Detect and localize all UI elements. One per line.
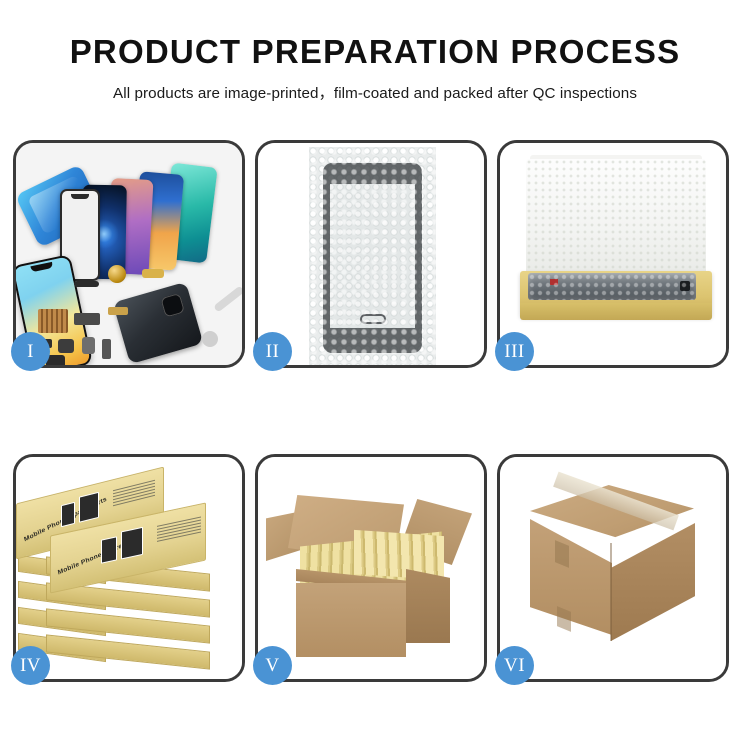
step-1-image: [16, 143, 242, 365]
box-window-left: [101, 536, 117, 563]
process-step-6: VI: [497, 454, 729, 682]
bubble-wrap-sheet: [309, 147, 436, 365]
step-3-image: [500, 143, 726, 365]
foam-padding: [526, 159, 706, 284]
phone-back-housing: [113, 282, 204, 364]
page-subtitle: All products are image-printed，film-coat…: [0, 81, 750, 103]
process-step-grid: I II: [13, 140, 737, 682]
carton-vertical-edge: [610, 543, 612, 641]
camera-lens-part-icon: [108, 265, 126, 283]
retail-box-stack: Mobile Phone Spare Parts Mobile Phone Sp…: [16, 457, 242, 679]
page-title: PRODUCT PREPARATION PROCESS: [0, 34, 750, 70]
box-window-right: [79, 492, 99, 523]
step-2-image: [258, 143, 484, 365]
step-badge-1: I: [11, 332, 50, 371]
box-window-right: [121, 527, 143, 560]
flex-cable-part-icon: [142, 269, 164, 278]
sim-tray-part-icon: [102, 339, 111, 359]
screw-part-icon: [202, 331, 218, 347]
step-badge-2: II: [253, 332, 292, 371]
button-part-icon: [58, 339, 74, 353]
kraft-box-front-wall: [520, 303, 712, 320]
step-badge-3: III: [495, 332, 534, 371]
tweezers-tool-icon: [213, 285, 242, 312]
process-step-2: II: [255, 140, 487, 368]
red-marker-icon: [550, 279, 558, 285]
box-window-left: [61, 502, 75, 527]
carton-seam-lower: [557, 606, 571, 632]
process-step-1: I: [13, 140, 245, 368]
connector-part-icon: [74, 313, 100, 325]
process-step-5: V: [255, 454, 487, 682]
step-badge-4: IV: [11, 646, 50, 685]
packed-boxes-row-back: [354, 530, 444, 580]
screen-in-box: [528, 273, 696, 300]
gold-flex-part-icon: [108, 307, 128, 315]
step-badge-6: VI: [495, 646, 534, 685]
header: PRODUCT PREPARATION PROCESS All products…: [0, 0, 750, 103]
carton-left-face: [530, 519, 612, 635]
step-6-image: [500, 457, 726, 679]
carton-front-wall: [296, 583, 406, 657]
process-step-4: Mobile Phone Spare Parts Mobile Phone Sp…: [13, 454, 245, 682]
carton-right-wall: [406, 569, 450, 643]
infographic-page: PRODUCT PREPARATION PROCESS All products…: [0, 0, 750, 750]
step-5-image: [258, 457, 484, 679]
box-spec-lines: [113, 480, 155, 508]
process-step-3: III: [497, 140, 729, 368]
wrapped-screen: [323, 163, 422, 353]
screen-connector-icon: [680, 281, 690, 291]
speaker-part-icon: [74, 281, 99, 287]
carton-right-face: [611, 523, 695, 641]
step-badge-5: V: [253, 646, 292, 685]
copper-grid-part-icon: [38, 309, 68, 333]
step-4-image: Mobile Phone Spare Parts Mobile Phone Sp…: [16, 457, 242, 679]
box-spec-lines: [157, 516, 201, 543]
battery-part-icon: [82, 337, 95, 354]
home-button-icon: [360, 314, 386, 324]
